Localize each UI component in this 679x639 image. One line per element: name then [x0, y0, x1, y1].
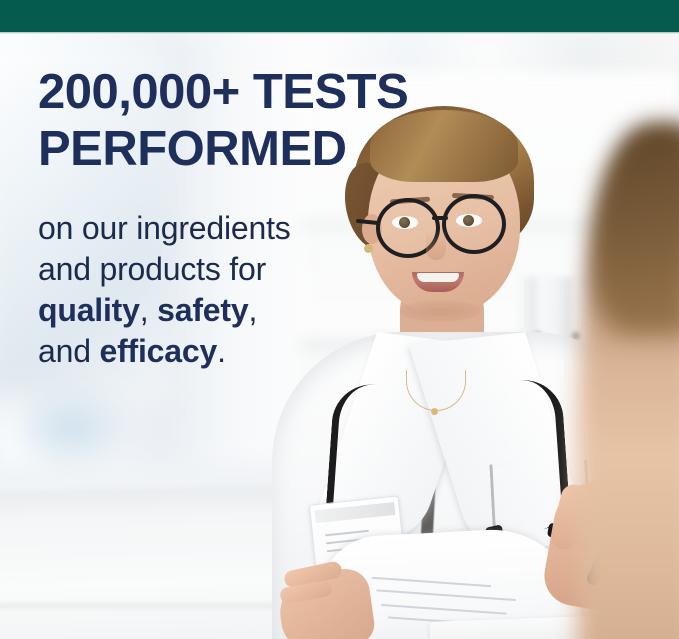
subcopy-emphasis-quality: quality: [38, 292, 140, 328]
name-badge-header-strip: [315, 502, 396, 523]
paper-text-line: [376, 589, 516, 601]
promo-banner: 200,000+ TESTS PERFORMED on our ingredie…: [0, 0, 679, 639]
subcopy-line-4-prefix: and: [38, 333, 99, 369]
subcopy-emphasis-safety: safety: [157, 292, 248, 328]
subcopy-period: .: [217, 333, 226, 369]
subcopy-emphasis-efficacy: efficacy: [99, 333, 217, 369]
text-block: 200,000+ TESTS PERFORMED on our ingredie…: [38, 64, 468, 372]
subcopy-separator: ,: [140, 292, 157, 328]
paper-text-line: [381, 604, 507, 615]
headline-line-2: PERFORMED: [38, 122, 347, 176]
necklace-pendant: [431, 408, 438, 415]
subcopy: on our ingredients and products for qual…: [38, 208, 468, 372]
top-accent-bar-shadow: [0, 32, 679, 34]
paper-text-line: [372, 577, 492, 587]
subcopy-line-2: and products for: [38, 251, 266, 287]
subcopy-line-1: on our ingredients: [38, 210, 291, 246]
headline: 200,000+ TESTS PERFORMED: [38, 64, 468, 178]
top-accent-bar: [0, 0, 679, 32]
subcopy-separator: ,: [248, 292, 257, 328]
background-blue-highlight: [6, 382, 136, 472]
name-badge-text-line: [325, 530, 369, 537]
headline-line-1: 200,000+ TESTS: [38, 65, 408, 119]
